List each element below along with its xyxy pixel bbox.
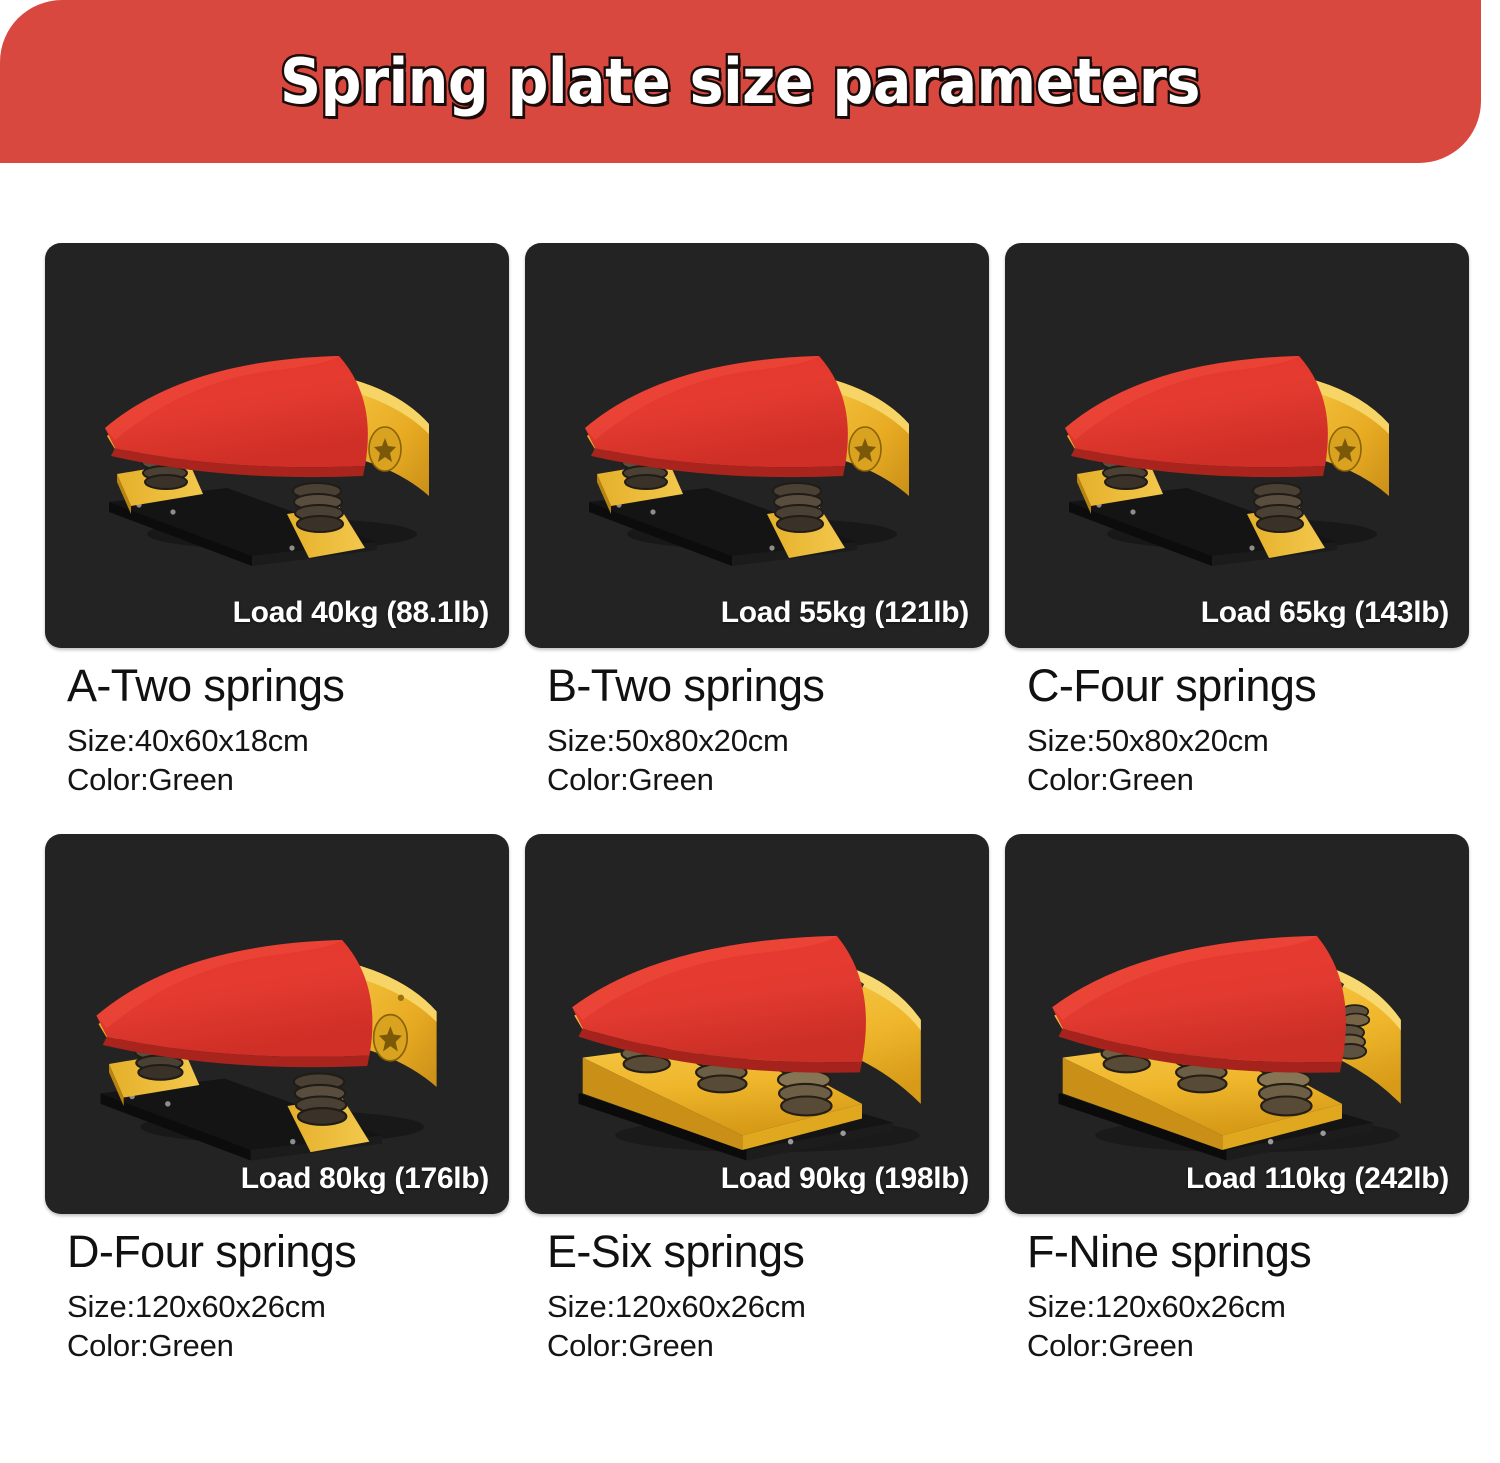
- product-size: Size:120x60x26cm: [1027, 1287, 1469, 1327]
- product-info: D-Four springs Size:120x60x26cm Color:Gr…: [45, 1214, 509, 1366]
- product-title: F-Nine springs: [1027, 1228, 1469, 1277]
- product-photo-panel: Load 40kg (88.1lb): [45, 243, 509, 648]
- springboard-solid-body-icon: [547, 897, 967, 1162]
- product-title: E-Six springs: [547, 1228, 989, 1277]
- product-card-f: Load 110kg (242lb) F-Nine springs Size:1…: [1005, 834, 1469, 1366]
- product-info: A-Two springs Size:40x60x18cm Color:Gree…: [45, 648, 509, 800]
- product-title: A-Two springs: [67, 662, 509, 711]
- load-capacity-label: Load 80kg (176lb): [241, 1162, 489, 1196]
- product-color: Color:Green: [67, 1326, 509, 1366]
- product-info: C-Four springs Size:50x80x20cm Color:Gre…: [1005, 648, 1469, 800]
- springboard-image-d: [45, 834, 509, 1214]
- product-card-d: Load 80kg (176lb) D-Four springs Size:12…: [45, 834, 509, 1366]
- load-capacity-label: Load 90kg (198lb): [721, 1162, 969, 1196]
- load-capacity-label: Load 40kg (88.1lb): [233, 596, 489, 630]
- load-capacity-label: Load 110kg (242lb): [1186, 1162, 1449, 1196]
- product-size: Size:50x80x20cm: [1027, 721, 1469, 761]
- product-grid: Load 40kg (88.1lb) A-Two springs Size:40…: [45, 243, 1469, 1366]
- product-size: Size:50x80x20cm: [547, 721, 989, 761]
- product-size: Size:120x60x26cm: [67, 1287, 509, 1327]
- product-photo-panel: Load 90kg (198lb): [525, 834, 989, 1214]
- page-title: Spring plate size parameters: [280, 45, 1200, 118]
- product-title: B-Two springs: [547, 662, 989, 711]
- product-size: Size:120x60x26cm: [547, 1287, 989, 1327]
- product-color: Color:Green: [547, 760, 989, 800]
- infographic-page: Spring plate size parameters: [0, 0, 1500, 1463]
- product-title: D-Four springs: [67, 1228, 509, 1277]
- spring-right: [294, 1073, 347, 1124]
- product-card-e: Load 90kg (198lb) E-Six springs Size:120…: [525, 834, 989, 1366]
- product-size: Size:40x60x18cm: [67, 721, 509, 761]
- product-info: E-Six springs Size:120x60x26cm Color:Gre…: [525, 1214, 989, 1366]
- load-capacity-label: Load 55kg (121lb): [721, 596, 969, 630]
- product-card-a: Load 40kg (88.1lb) A-Two springs Size:40…: [45, 243, 509, 800]
- product-photo-panel: Load 65kg (143lb): [1005, 243, 1469, 648]
- product-info: B-Two springs Size:50x80x20cm Color:Gree…: [525, 648, 989, 800]
- spring-right: [773, 483, 823, 532]
- springboard-image-c: [1005, 243, 1469, 648]
- product-color: Color:Green: [547, 1326, 989, 1366]
- product-card-b: Load 55kg (121lb) B-Two springs Size:50x…: [525, 243, 989, 800]
- product-info: F-Nine springs Size:120x60x26cm Color:Gr…: [1005, 1214, 1469, 1366]
- product-photo-panel: Load 110kg (242lb): [1005, 834, 1469, 1214]
- springboard-open-frame-icon: [1037, 316, 1437, 566]
- springboard-open-frame-icon: [557, 316, 957, 566]
- spring-right: [1253, 483, 1303, 532]
- product-title: C-Four springs: [1027, 662, 1469, 711]
- product-color: Color:Green: [67, 760, 509, 800]
- springboard-solid-body-icon: [1027, 897, 1447, 1162]
- springboard-image-b: [525, 243, 989, 648]
- springboard-image-e: [525, 834, 989, 1214]
- springboard-image-f: [1005, 834, 1469, 1214]
- header-banner: Spring plate size parameters: [0, 0, 1481, 163]
- spring-right: [293, 483, 343, 532]
- product-photo-panel: Load 80kg (176lb): [45, 834, 509, 1214]
- product-card-c: Load 65kg (143lb) C-Four springs Size:50…: [1005, 243, 1469, 800]
- springboard-open-frame-icon: [67, 897, 487, 1162]
- product-color: Color:Green: [1027, 1326, 1469, 1366]
- product-color: Color:Green: [1027, 760, 1469, 800]
- load-capacity-label: Load 65kg (143lb): [1201, 596, 1449, 630]
- springboard-image-a: [45, 243, 509, 648]
- product-photo-panel: Load 55kg (121lb): [525, 243, 989, 648]
- springboard-open-frame-icon: [77, 316, 477, 566]
